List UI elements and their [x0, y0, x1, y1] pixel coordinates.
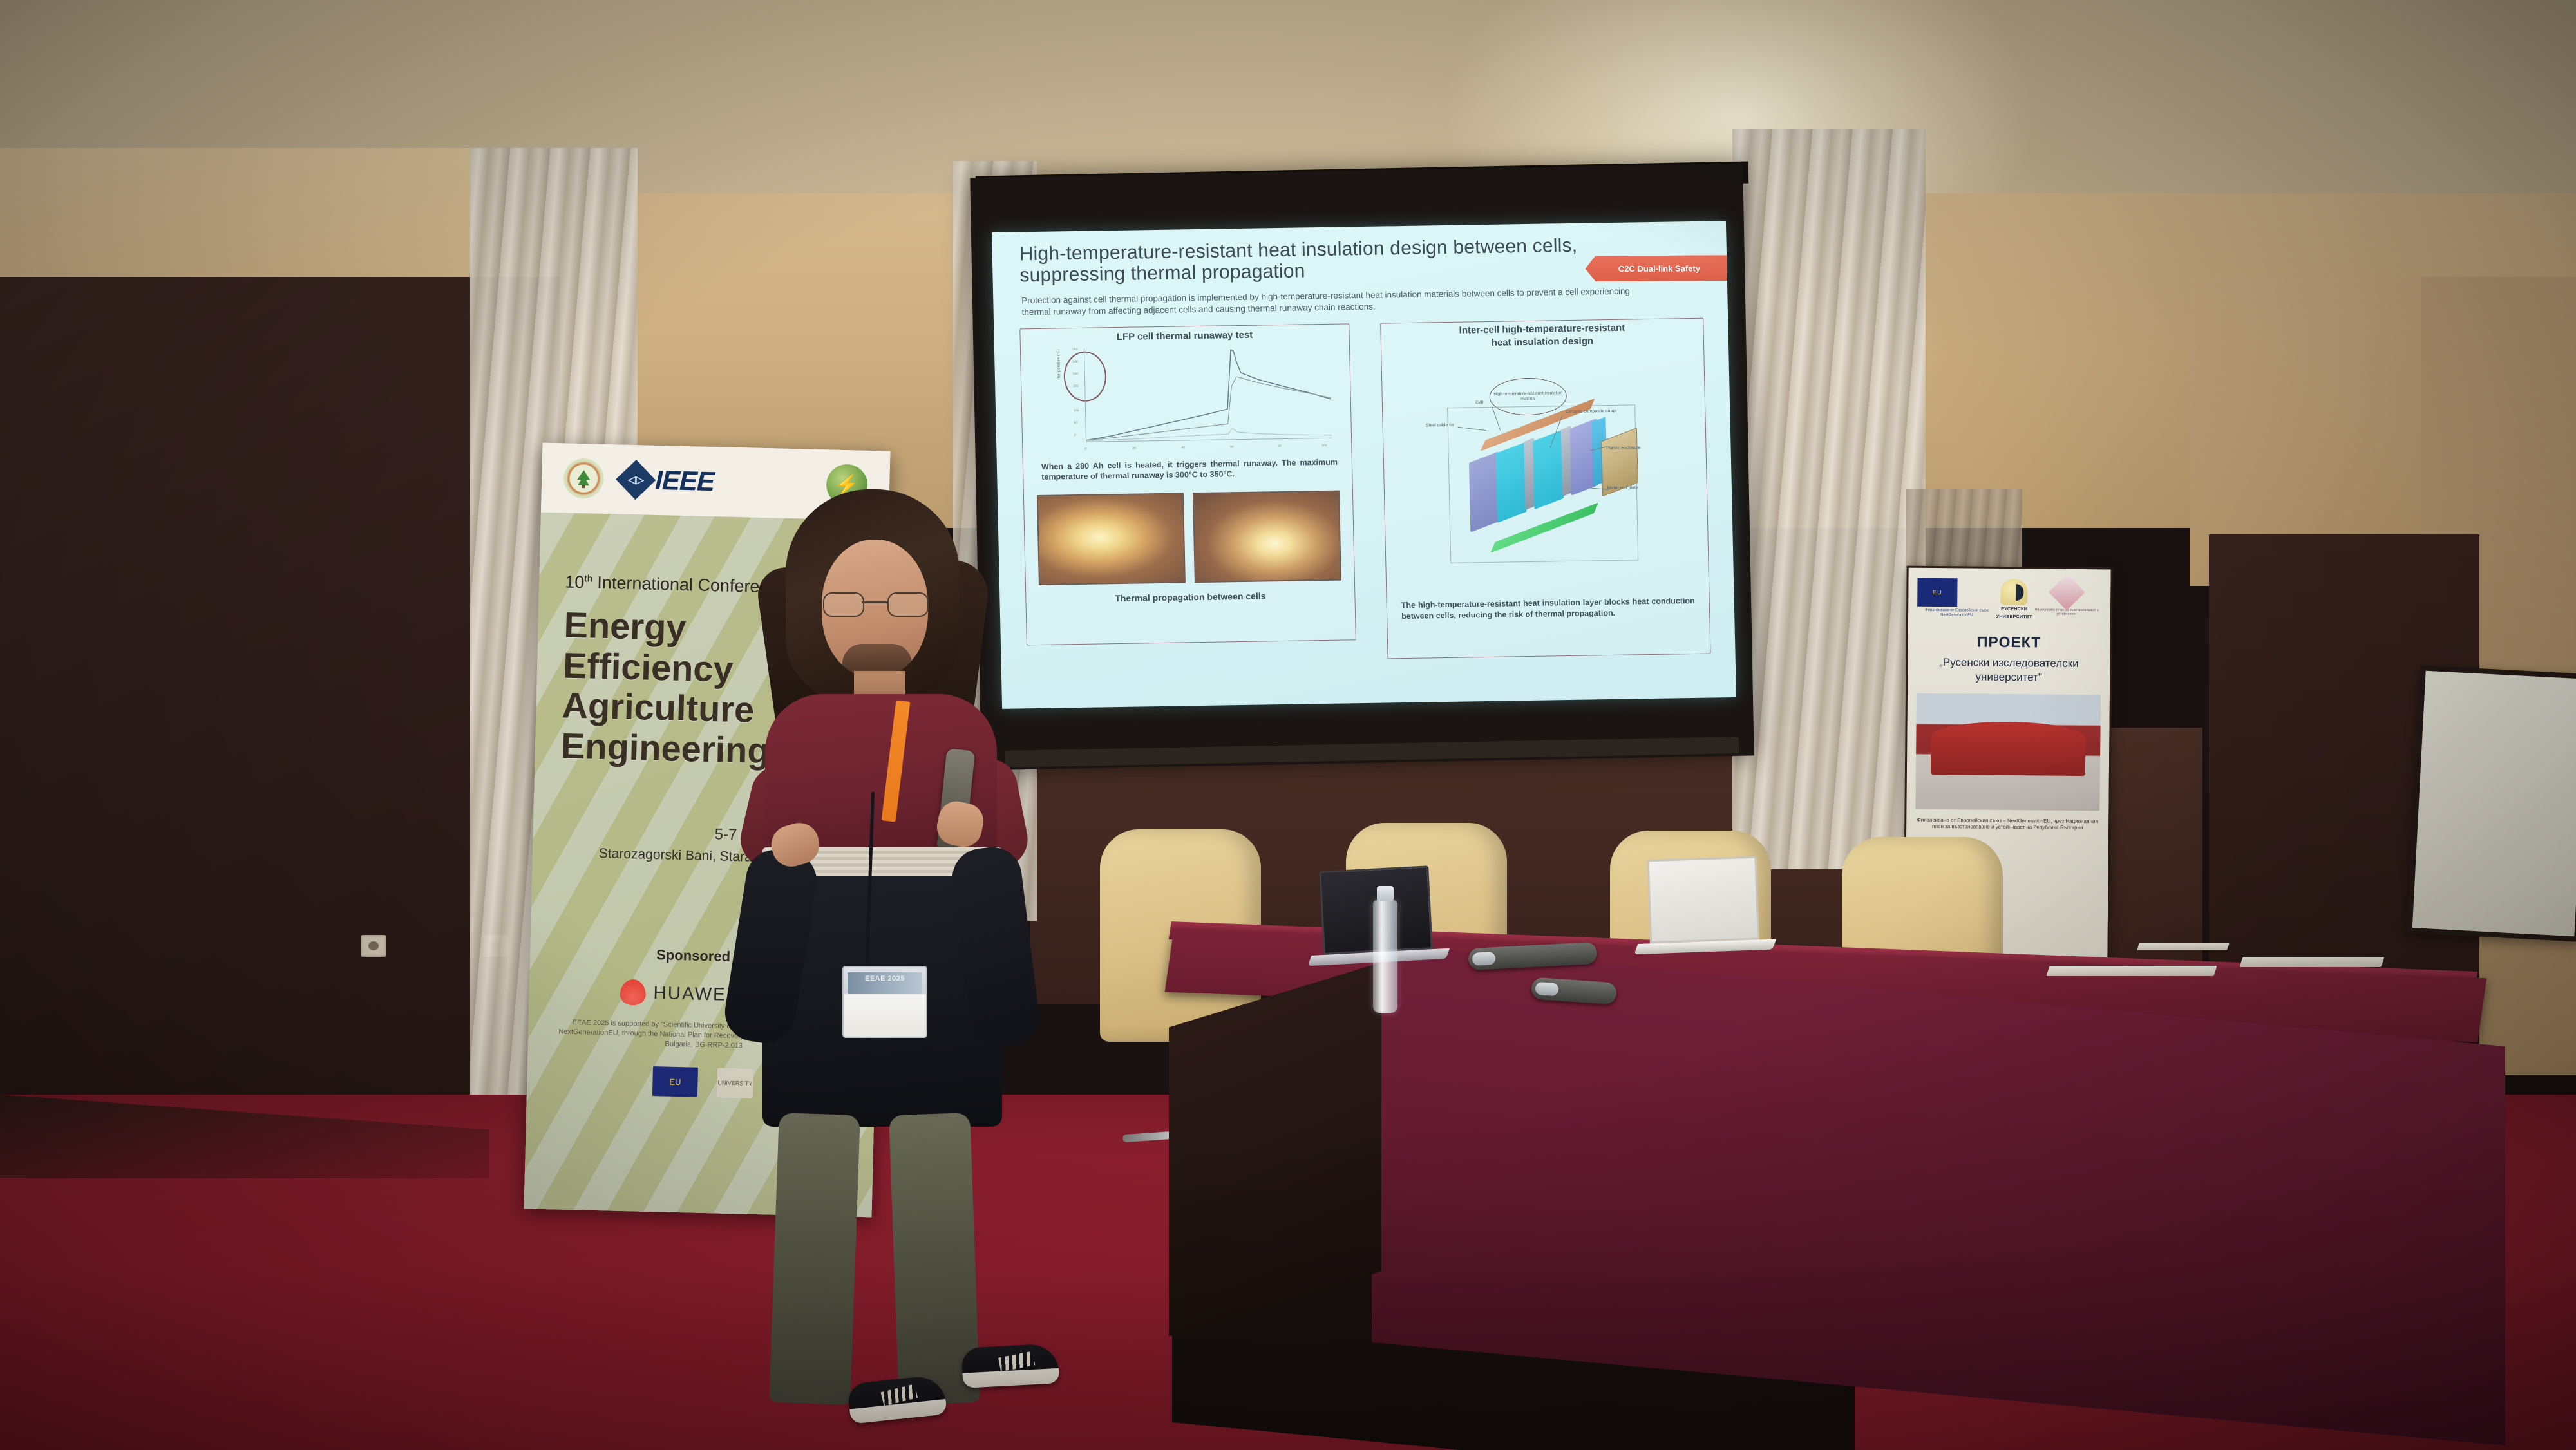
- presenter-leg-left: [769, 1113, 860, 1405]
- tree-logo-icon: [563, 458, 604, 498]
- inter-cell-insulation-diagram: High-temperature-resistant insulation ma…: [1427, 379, 1663, 569]
- glasses-lens-right: [887, 592, 929, 617]
- ruse-university-logo: РУСЕНСКИ УНИВЕРСИТЕТ: [1996, 579, 2032, 620]
- diagram-cell-1: [1496, 442, 1527, 523]
- sneaker-stripes: [880, 1384, 918, 1406]
- ruse-university-mark-icon: [2001, 579, 2028, 605]
- curtain-right: [1732, 129, 1926, 869]
- water-bottle: [1373, 900, 1397, 1013]
- presenter-legs: [774, 1114, 987, 1423]
- projected-slide: High-temperature-resistant heat insulati…: [992, 221, 1736, 709]
- slide-left-panel: LFP cell thermal runaway test Temperatur…: [1019, 323, 1356, 645]
- bottle-cap: [1377, 886, 1394, 901]
- flipchart-whiteboard: [2407, 665, 2576, 941]
- glasses-bridge: [862, 601, 887, 603]
- photo-caption: Thermal propagation between cells: [1026, 589, 1354, 605]
- eu-flag-label: EU: [1933, 589, 1942, 596]
- left-panel-note: When a 280 Ah cell is heated, it trigger…: [1041, 457, 1338, 483]
- eu-flag-icon: EU: [652, 1066, 698, 1097]
- diagram-cell-2: [1533, 430, 1564, 509]
- laptop-screen: [1647, 856, 1759, 943]
- diagram-label-ceramic-strap: Ceramic composite strap: [1566, 409, 1616, 414]
- slide-subtitle: Protection against cell thermal propagat…: [1021, 285, 1653, 319]
- national-plan-mark-icon: [2049, 574, 2085, 611]
- diagram-end-plate-left: [1469, 451, 1500, 532]
- banner-edition-number: 10: [565, 572, 585, 592]
- presenter: EEAE 2025: [696, 489, 1056, 1404]
- sneaker-stripes: [998, 1351, 1035, 1372]
- huawei-flower-icon: [620, 979, 646, 1006]
- burn-test-photo-1: [1037, 493, 1186, 585]
- ruse-university-line1: РУСЕНСКИ: [1996, 607, 2032, 612]
- left-panel-caption: LFP cell thermal runaway test: [1020, 328, 1349, 344]
- slide-right-panel: Inter-cell high-temperature-resistant he…: [1380, 318, 1710, 659]
- diagram-label-cell: Cell: [1475, 400, 1483, 405]
- project-banner-logo-row: EU Финансирано от Европейския съюз NextG…: [1917, 578, 2102, 621]
- chart-series-adjacent-1: [1085, 375, 1332, 440]
- national-plan-logo: Национален план за възстановяване и усто…: [2032, 579, 2101, 617]
- papers: [2239, 957, 2384, 967]
- slide-title: High-temperature-resistant heat insulati…: [1019, 234, 1599, 286]
- c2c-dual-link-safety-ribbon: C2C Dual-link Safety: [1585, 255, 1733, 281]
- right-panel-note: The high-temperature-resistant heat insu…: [1401, 596, 1696, 621]
- papers: [2046, 966, 2217, 976]
- right-panel-caption-line2: heat insulation design: [1381, 334, 1703, 350]
- glasses-icon: [823, 592, 926, 614]
- power-outlet: [361, 935, 386, 957]
- diagram-label-steel-cable-tie: Steel cable tie: [1426, 423, 1454, 428]
- glasses-lens-left: [823, 592, 864, 617]
- conference-photo-scene: High-temperature-resistant heat insulati…: [0, 0, 2576, 1450]
- eu-funding-logo: EU Финансирано от Европейския съюз NextG…: [1917, 578, 1996, 617]
- eu-flag-icon: EU: [1917, 578, 1957, 607]
- thermal-propagation-photos: [1037, 491, 1341, 585]
- project-banner-subtitle: „Русенски изследователски университет": [1917, 655, 2101, 684]
- badge-text: EEAE 2025: [844, 975, 926, 983]
- sneaker-right: [961, 1343, 1059, 1388]
- chart-series-svg: [1058, 343, 1338, 453]
- laptop-white: [1647, 856, 1775, 954]
- diagram-label-plastic-enclosure: Plastic enclosure: [1606, 446, 1640, 451]
- diagram-label-metal-end-plate: Metal end plate: [1607, 485, 1638, 491]
- banner-edition-suffix: th: [584, 573, 592, 584]
- conference-badge: EEAE 2025: [842, 966, 927, 1038]
- project-building-photo: [1915, 693, 2101, 811]
- chart-series-adjacent-2: [1086, 427, 1332, 441]
- project-banner-title: ПРОЕКТ: [1917, 633, 2101, 652]
- head-table-skirt-left: [1169, 963, 1381, 1337]
- burn-test-photo-2: [1193, 491, 1341, 583]
- papers: [2137, 943, 2230, 950]
- ruse-university-line2: УНИВЕРСИТЕТ: [1996, 614, 2032, 619]
- eu-funding-caption: Финансирано от Европейския съюз NextGene…: [1917, 608, 1996, 617]
- project-banner-fine-print: Финансирано от Европейския съюз – NextGe…: [1915, 816, 2099, 831]
- ieee-diamond-icon: ◁▷: [616, 460, 656, 500]
- thermal-runaway-chart: Temperature (°C) 350 300 250 200 150 100…: [1058, 343, 1338, 453]
